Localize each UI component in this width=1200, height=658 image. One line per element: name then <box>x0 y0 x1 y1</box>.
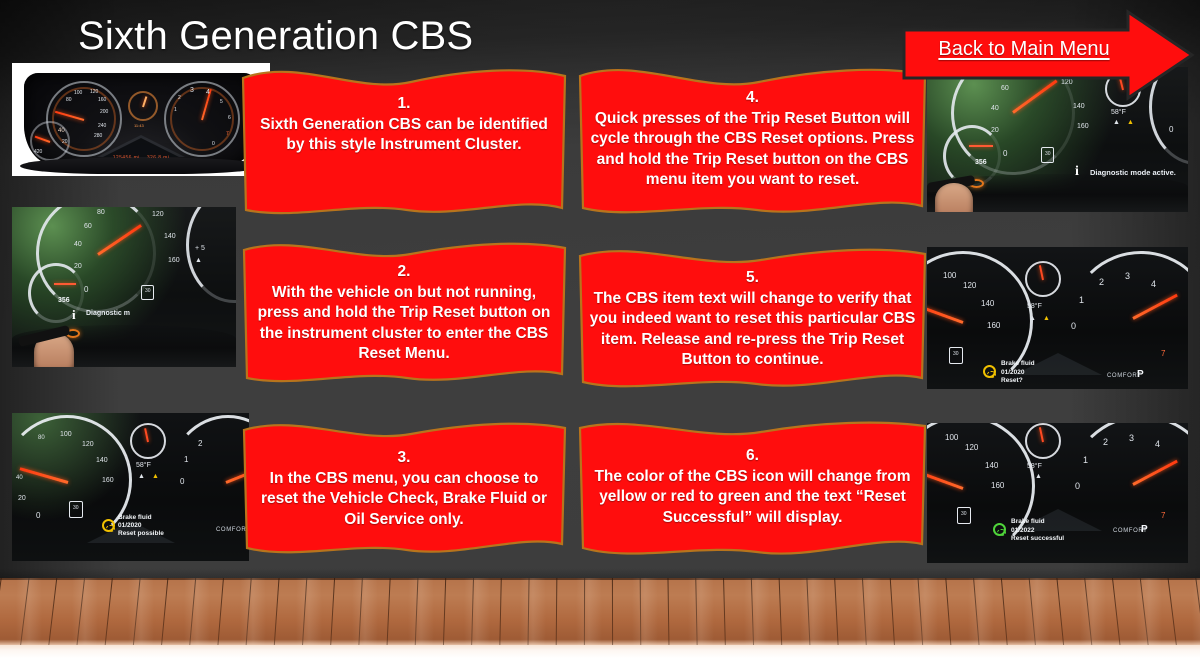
step-text: Quick presses of the Trip Reset Button w… <box>589 109 916 191</box>
floor-grain <box>632 578 658 648</box>
back-to-main-menu-button[interactable]: Back to Main Menu <box>900 8 1196 102</box>
gear-indicator: P <box>1137 369 1144 380</box>
cbs-message: Brake fluid 01/2020 Reset? <box>1001 360 1035 386</box>
floor-grain <box>128 578 154 648</box>
cluster-closeup: 80 60 40 20 0 120 140 160 356 30 + 5 ▲ i… <box>12 207 236 367</box>
floor-plank <box>104 578 114 648</box>
cbs-date: 01/2020 <box>1001 369 1035 378</box>
outside-temperature: 58°F <box>1111 109 1126 116</box>
step-text: Sixth Generation CBS can be identified b… <box>253 115 555 156</box>
step-banner-5: 5. The CBS item text will change to veri… <box>575 244 930 396</box>
cbs-status-icon <box>102 519 115 532</box>
cbs-message: Brake fluid 01/2020 Reset possible <box>118 514 164 538</box>
cluster-closeup: 100 120 140 160 58°F ▲ 0 1 2 3 4 7 30 Br… <box>927 423 1188 563</box>
cluster-closeup: 100 80 120 140 160 40 20 0 58°F ▲ ▲ 0 1 … <box>12 413 249 561</box>
floor-plank <box>889 578 895 648</box>
speed-limit-badge: 30 <box>949 347 963 364</box>
step-banner-3-text: 3. In the CBS menu, you can choose to re… <box>239 448 569 530</box>
floor-grain <box>856 578 882 648</box>
cluster-hood <box>20 158 262 174</box>
floor-plank <box>945 578 952 648</box>
floor-grain <box>520 578 546 648</box>
image-instrument-cluster-sixth-generation: 40 20 80 100 120 160 200 240 280 420 11:… <box>12 63 270 176</box>
floor-grain <box>1136 578 1162 648</box>
cbs-date: 01/2020 <box>118 522 164 530</box>
tachometer-ring <box>186 207 236 303</box>
outside-temperature: 58°F <box>136 462 151 469</box>
step-number: 2. <box>253 262 555 283</box>
cbs-date: 01/2022 <box>1011 527 1064 536</box>
step-banner-1-text: 1. Sixth Generation CBS can be identifie… <box>239 94 569 156</box>
floor-plank <box>1056 578 1065 648</box>
floor-plank <box>499 578 502 648</box>
slide-canvas: Sixth Generation CBS 40 20 80 100 120 16… <box>0 0 1200 658</box>
speed-limit-badge: 30 <box>1041 147 1054 163</box>
floor-plank <box>612 578 613 648</box>
step-banner-2-text: 2. With the vehicle on but not running, … <box>239 262 569 365</box>
cbs-state: Reset possible <box>118 530 164 538</box>
floor-grain <box>1024 578 1050 648</box>
floor-grain <box>296 578 322 648</box>
cluster-closeup: 100 120 140 160 58°F ▲ ▲ 0 1 2 3 4 7 30 … <box>927 247 1188 389</box>
floor-grain <box>464 578 490 648</box>
cbs-state: Reset successful <box>1011 535 1064 544</box>
slide-bottom-edge <box>0 645 1200 658</box>
floor-grain <box>240 578 266 648</box>
floor-plank <box>47 578 58 648</box>
fuel-gauge-needle <box>969 145 993 147</box>
cbs-title: Brake fluid <box>118 514 164 522</box>
floor-grain <box>408 578 434 648</box>
floor-plank <box>778 578 782 648</box>
info-icon: i <box>1075 164 1079 180</box>
image-cluster-brake-fluid-reset-successful: 100 120 140 160 58°F ▲ 0 1 2 3 4 7 30 Br… <box>927 423 1188 563</box>
gear-indicator: P <box>1141 524 1148 535</box>
speed-limit-badge: 30 <box>69 501 83 518</box>
step-number: 6. <box>589 446 916 467</box>
fuel-gauge-needle <box>54 283 76 285</box>
floor-grain <box>912 578 938 648</box>
floor-grain <box>800 578 826 648</box>
speed-limit-badge: 30 <box>141 285 154 300</box>
image-cluster-brake-fluid-reset-prompt: 100 120 140 160 58°F ▲ ▲ 0 1 2 3 4 7 30 … <box>927 247 1188 389</box>
floor-grain <box>968 578 994 648</box>
floor-plank <box>1167 578 1178 648</box>
floor-plank <box>443 578 447 648</box>
floor-plank <box>834 578 839 648</box>
floor-grain <box>352 578 378 648</box>
step-number: 1. <box>253 94 555 115</box>
cluster-screen: 40 20 80 100 120 160 200 240 280 420 11:… <box>24 73 258 165</box>
cbs-status-icon <box>993 523 1006 536</box>
cbs-title: Brake fluid <box>1011 518 1064 527</box>
step-banner-4: 4. Quick presses of the Trip Reset Butto… <box>575 60 930 222</box>
rpm-small-readout: 356 <box>58 297 70 304</box>
floor-grain <box>688 578 714 648</box>
step-text: In the CBS menu, you can choose to reset… <box>253 469 555 531</box>
step-banner-5-text: 5. The CBS item text will change to veri… <box>575 268 930 371</box>
wood-floor <box>0 578 1200 648</box>
floor-plank <box>1000 578 1008 648</box>
step-text: With the vehicle on but not running, pre… <box>253 283 555 365</box>
floor-plank <box>330 578 336 648</box>
floor-plank <box>0 578 2 648</box>
clock-readout: 11:43 <box>134 123 144 128</box>
floor-grain <box>184 578 210 648</box>
step-banner-1: 1. Sixth Generation CBS can be identifie… <box>239 60 569 222</box>
cbs-message: Brake fluid 01/2022 Reset successful <box>1011 518 1064 544</box>
step-banner-6: 6. The color of the CBS icon will change… <box>575 420 930 572</box>
info-icon: i <box>72 307 76 323</box>
floor-plank <box>723 578 726 648</box>
diagnostic-status-text: Diagnostic mode active. <box>1090 168 1176 177</box>
back-to-main-menu-label[interactable]: Back to Main Menu <box>924 37 1124 61</box>
floor-plank <box>386 578 391 648</box>
step-banner-3: 3. In the CBS menu, you can choose to re… <box>239 416 569 568</box>
tachometer-ring <box>1069 423 1188 557</box>
step-banner-4-text: 4. Quick presses of the Trip Reset Butto… <box>575 88 930 191</box>
speed-limit-badge: 30 <box>957 507 971 524</box>
cbs-status-icon <box>983 365 996 378</box>
step-banner-2: 2. With the vehicle on but not running, … <box>239 238 569 390</box>
page-title: Sixth Generation CBS <box>78 14 473 58</box>
step-number: 3. <box>253 448 555 469</box>
floor-grain <box>72 578 98 648</box>
step-text: The color of the CBS icon will change fr… <box>589 467 916 529</box>
cbs-state: Reset? <box>1001 377 1035 386</box>
floor-grain <box>16 578 42 648</box>
image-cluster-cbs-menu-reset-possible: 100 80 120 140 160 40 20 0 58°F ▲ ▲ 0 1 … <box>12 413 249 561</box>
floor-plank <box>273 578 280 648</box>
floor-grain <box>1080 578 1106 648</box>
floor-plank <box>1111 578 1121 648</box>
rpm-small-readout: 356 <box>975 159 987 166</box>
image-cluster-trip-reset-button-press: 80 60 40 20 0 120 140 160 356 30 + 5 ▲ i… <box>12 207 236 367</box>
floor-plank <box>667 578 669 648</box>
floor-plank <box>217 578 225 648</box>
floor-plank <box>556 578 558 648</box>
floor-plank <box>160 578 169 648</box>
floor-grain <box>744 578 770 648</box>
step-text: The CBS item text will change to verify … <box>589 289 916 371</box>
diagnostic-status-text: Diagnostic m <box>86 310 130 317</box>
floor-grain <box>576 578 602 648</box>
outside-temperature: 58°F <box>1027 463 1042 470</box>
step-number: 5. <box>589 268 916 289</box>
outside-temperature: 58°F <box>1027 303 1042 310</box>
floor-grain <box>1192 578 1200 648</box>
step-banner-6-text: 6. The color of the CBS icon will change… <box>575 446 930 528</box>
hand <box>935 183 973 212</box>
step-number: 4. <box>589 88 916 109</box>
cbs-title: Brake fluid <box>1001 360 1035 369</box>
